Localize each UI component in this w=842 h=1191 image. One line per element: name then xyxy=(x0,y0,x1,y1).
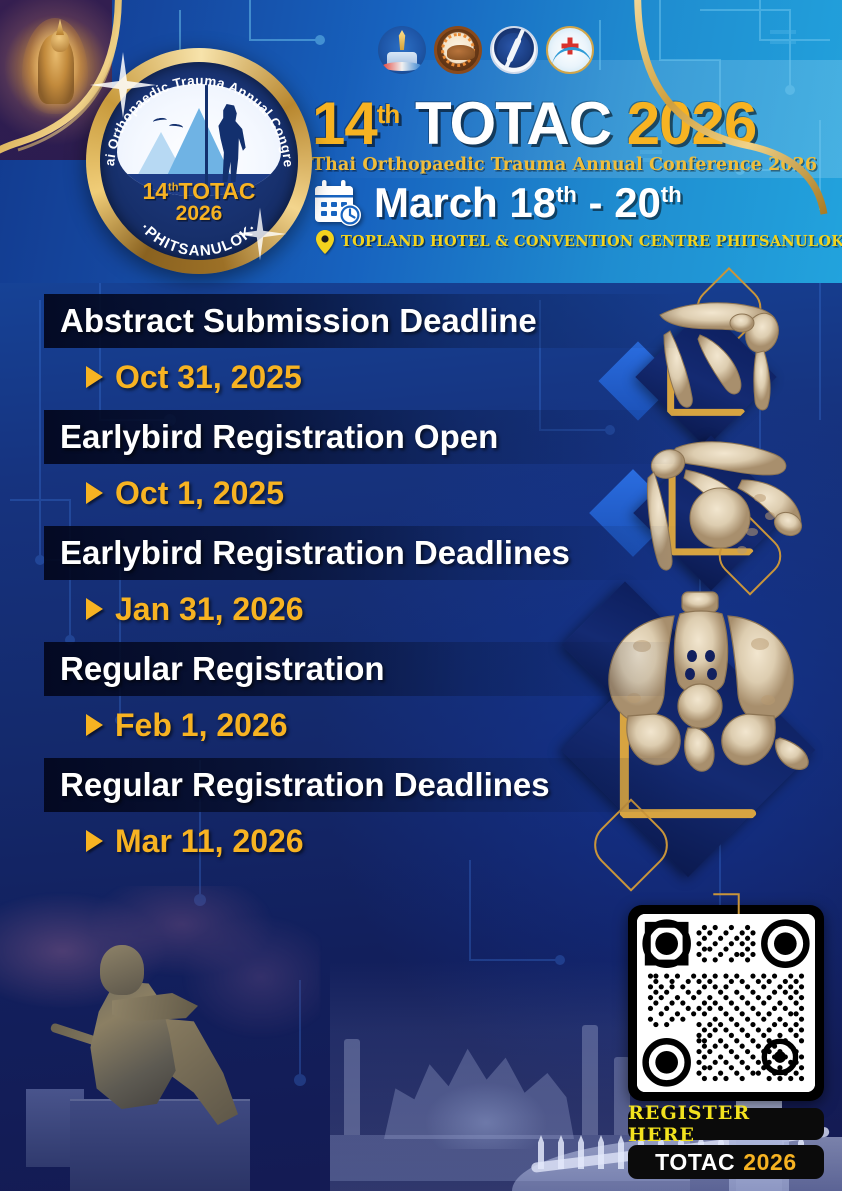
venue-line: TOPLAND HOTEL & CONVENTION CENTRE PHITSA… xyxy=(316,230,782,254)
emblem-arc-bottom-text: ·PHITSANULOK· xyxy=(137,220,261,260)
emblem-center-text: 14thTOTAC 2026 xyxy=(100,180,298,225)
title-year: 2026 xyxy=(627,90,756,157)
deadline-heading-text: Earlybird Registration Deadlines xyxy=(60,534,570,572)
deadline-heading-text: Regular Registration Deadlines xyxy=(60,766,550,804)
totac-year-text: 2026 xyxy=(743,1149,797,1176)
thai-orthopaedic-trauma-society-seal xyxy=(490,26,538,74)
date-separator: - xyxy=(589,179,603,226)
deadline-date-row: Feb 1, 2026 xyxy=(44,698,684,752)
emblem-number: 14 xyxy=(142,178,168,204)
ministry-of-public-health-seal xyxy=(546,26,594,74)
deadline-date-text: Mar 11, 2026 xyxy=(115,823,304,860)
triangle-bullet-icon xyxy=(86,366,103,388)
emblem-acronym: TOTAC xyxy=(178,178,255,204)
deadline-heading-text: Earlybird Registration Open xyxy=(60,418,498,456)
registration-qr-block[interactable]: REGISTER HERE TOTAC 2026 xyxy=(628,905,824,1179)
deadline-date-row: Oct 1, 2025 xyxy=(44,466,684,520)
statue-head xyxy=(100,945,144,995)
poster-canvas: 14th TOTAC 2026 Thai Orthopaedic Trauma … xyxy=(0,0,842,1191)
date-month: March xyxy=(374,179,498,226)
triangle-bullet-icon xyxy=(86,598,103,620)
emblem-year: 2026 xyxy=(100,203,298,224)
institution-seals xyxy=(378,26,594,74)
date-day-end: 20 xyxy=(614,179,661,226)
deadline-heading-text: Regular Registration xyxy=(60,650,385,688)
conference-dates: March 18th - 20th xyxy=(374,179,682,227)
deadline-date-row: Oct 31, 2025 xyxy=(44,350,684,404)
date-day-end-suffix: th xyxy=(661,182,682,207)
deadlines-list: Abstract Submission Deadline Oct 31, 202… xyxy=(44,294,684,874)
main-title: 14th TOTAC 2026 xyxy=(312,95,782,153)
calendar-clock-icon xyxy=(312,179,364,227)
deadline-date-text: Oct 31, 2025 xyxy=(115,359,302,396)
emblem-inner-disc: Thai Orthopaedic Trauma Annual Congress … xyxy=(100,62,298,260)
qr-code-surface[interactable] xyxy=(637,914,815,1092)
venue-name: TOPLAND HOTEL & CONVENTION CENTRE PHITSA… xyxy=(341,233,842,250)
svg-text:Thai Orthopaedic Trauma Annual: Thai Orthopaedic Trauma Annual Congress xyxy=(100,62,296,168)
congress-emblem-logo: Thai Orthopaedic Trauma Annual Congress … xyxy=(86,48,312,274)
date-day-start: 18 xyxy=(509,179,556,226)
deadline-heading-text: Abstract Submission Deadline xyxy=(60,302,537,340)
title-ordinal-number: 14 xyxy=(312,90,377,157)
deadline-heading: Earlybird Registration Open xyxy=(44,410,684,464)
emblem-arc-text: Thai Orthopaedic Trauma Annual Congress … xyxy=(100,62,298,260)
deadline-date-row: Jan 31, 2026 xyxy=(44,582,684,636)
totac-2026-label: TOTAC 2026 xyxy=(628,1145,824,1179)
king-naresuan-statue-image xyxy=(26,923,296,1191)
deadline-heading: Regular Registration Deadlines xyxy=(44,758,684,812)
deadline-date-text: Feb 1, 2026 xyxy=(115,707,288,744)
deadline-date-text: Oct 1, 2025 xyxy=(115,475,284,512)
triangle-bullet-icon xyxy=(86,830,103,852)
register-here-text: REGISTER HERE xyxy=(628,1102,824,1146)
emblem-number-suffix: th xyxy=(168,181,178,193)
deadline-heading: Earlybird Registration Deadlines xyxy=(44,526,684,580)
qr-code-card[interactable] xyxy=(628,905,824,1101)
conference-title-block: 14th TOTAC 2026 Thai Orthopaedic Trauma … xyxy=(312,95,782,254)
date-day-start-suffix: th xyxy=(556,182,577,207)
totac-label-text: TOTAC xyxy=(655,1149,735,1176)
conference-dateline: March 18th - 20th xyxy=(312,179,782,227)
deadline-date-row: Mar 11, 2026 xyxy=(44,814,684,868)
deadline-heading: Abstract Submission Deadline xyxy=(44,294,684,348)
svg-text:·PHITSANULOK·: ·PHITSANULOK· xyxy=(137,220,261,260)
triangle-bullet-icon xyxy=(86,482,103,504)
ruins-column xyxy=(344,1039,360,1135)
register-here-label[interactable]: REGISTER HERE xyxy=(628,1108,824,1140)
title-acronym: TOTAC xyxy=(415,90,611,157)
location-pin-icon xyxy=(316,230,334,254)
triangle-bullet-icon xyxy=(86,714,103,736)
deadline-date-text: Jan 31, 2026 xyxy=(115,591,304,628)
emblem-arc-top-text: Thai Orthopaedic Trauma Annual Congress xyxy=(100,62,296,168)
royal-thai-emblem-seal xyxy=(378,26,426,74)
deadline-heading: Regular Registration xyxy=(44,642,684,696)
naresuan-university-seal xyxy=(434,26,482,74)
conference-subtitle: Thai Orthopaedic Trauma Annual Conferenc… xyxy=(312,155,782,175)
registration-qr-code[interactable] xyxy=(637,914,815,1092)
title-ordinal-suffix: th xyxy=(377,99,400,129)
